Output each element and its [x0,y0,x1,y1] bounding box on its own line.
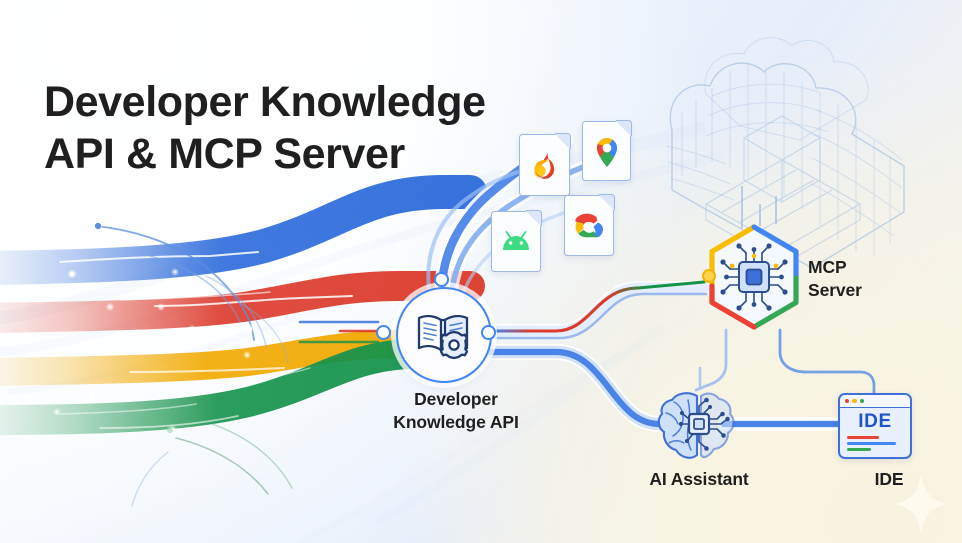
page-fold-corner [526,210,542,226]
google-cloud-icon [573,212,605,240]
code-line-3 [847,448,871,451]
doc-card-android[interactable] [491,211,541,272]
code-line-1 [847,436,879,439]
illustration-canvas: Developer Knowledge API & MCP Server [0,0,962,543]
page-fold-corner [555,133,571,149]
ide-window-title: IDE [840,411,910,433]
android-robot-icon [500,230,532,254]
label-ai-assistant: AI Assistant [608,468,790,491]
node-developer-knowledge-api[interactable] [396,287,492,383]
api-port-top[interactable] [434,272,449,287]
window-dot-minimize [852,399,856,403]
open-book-with-gear-icon [415,309,473,361]
window-dot-close [845,399,849,403]
ide-code-lines [840,433,910,451]
mcp-hexagon [704,224,804,330]
mcp-port-left[interactable] [702,269,716,283]
doc-card-cloud[interactable] [564,195,614,256]
node-ide[interactable]: IDE [838,393,912,459]
code-line-2 [847,442,896,445]
page-fold-corner [616,120,632,136]
google-maps-pin-icon [592,134,622,168]
doc-card-firebase[interactable] [519,134,570,196]
brain-circuit-icon [657,388,743,464]
node-ai-assistant[interactable] [657,388,743,464]
page-title: Developer Knowledge API & MCP Server [44,76,486,180]
firebase-flame-icon [530,149,560,181]
label-ide: IDE [820,468,958,491]
window-dot-maximize [860,399,864,403]
doc-card-maps[interactable] [582,121,631,181]
page-fold-corner [599,194,615,210]
label-developer-knowledge-api: Developer Knowledge API [343,388,569,434]
ide-titlebar [840,395,910,408]
node-mcp-server[interactable] [704,224,804,330]
label-mcp-server: MCP Server [808,256,938,302]
api-port-left[interactable] [376,325,391,340]
api-port-right[interactable] [481,325,496,340]
